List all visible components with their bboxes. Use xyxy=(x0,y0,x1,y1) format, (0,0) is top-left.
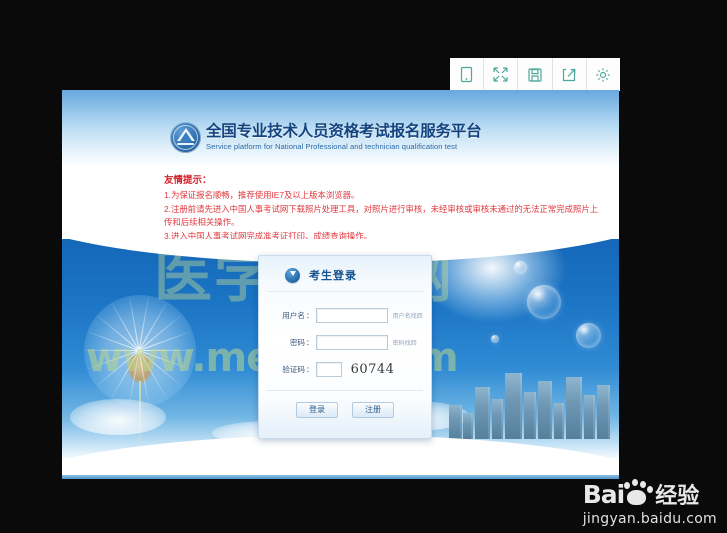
password-recover-link[interactable]: 密码找回 xyxy=(393,338,417,347)
baidu-jingyan-url: jingyan.baidu.com xyxy=(583,511,717,527)
password-row: 密码 ： 密码找回 xyxy=(259,329,431,356)
site-brand: 全国专业技术人员资格考试报名服务平台 Service platform for … xyxy=(170,122,481,153)
notice-line: 2.注册前请先进入中国人事考试网下载照片处理工具，对照片进行审核，未经审核或审核… xyxy=(164,203,601,230)
site-header: 全国专业技术人员资格考试报名服务平台 Service platform for … xyxy=(62,90,619,167)
bubble-decoration xyxy=(527,285,561,319)
national-exam-logo-icon xyxy=(170,122,201,153)
device-preview-icon[interactable] xyxy=(450,58,484,91)
captcha-input[interactable] xyxy=(316,362,342,377)
screenshot-root: 全国专业技术人员资格考试报名服务平台 Service platform for … xyxy=(0,0,727,533)
cloud-decoration xyxy=(70,399,166,435)
notice-title: 友情提示： xyxy=(164,174,601,187)
site-subtitle: Service platform for National Profession… xyxy=(206,141,481,152)
label-colon: ： xyxy=(306,364,314,375)
site-title: 全国专业技术人员资格考试报名服务平台 xyxy=(206,123,481,140)
browser-page: 全国专业技术人员资格考试报名服务平台 Service platform for … xyxy=(62,90,619,479)
fullscreen-icon[interactable] xyxy=(484,58,518,91)
baidu-jingyan-label: 经验 xyxy=(655,478,699,510)
baidu-jingyan-watermark: Bai 经验 jingyan.baidu.com xyxy=(583,478,717,527)
login-actions: 登录 注册 xyxy=(267,390,423,418)
username-recover-link[interactable]: 用户名找回 xyxy=(393,311,423,320)
username-label: 用户名 xyxy=(271,310,305,321)
bubble-decoration xyxy=(491,335,499,343)
username-input[interactable] xyxy=(316,308,388,323)
bubble-decoration xyxy=(514,261,527,274)
label-colon: ： xyxy=(306,310,314,321)
captcha-label: 验证码 xyxy=(271,364,305,375)
login-form: 用户名 ： 用户名找回 密码 ： 密码找回 验证码 ： xyxy=(259,292,431,383)
city-skyline-illustration xyxy=(447,363,613,439)
bubble-decoration xyxy=(576,323,601,348)
notice-block: 友情提示： 1.为保证报名顺畅，推荐使用IE7及以上版本浏览器。 2.注册前请先… xyxy=(62,167,619,239)
settings-gear-icon[interactable] xyxy=(587,58,620,91)
login-button[interactable]: 登录 xyxy=(296,402,338,418)
captcha-row: 验证码 ： 60744 xyxy=(259,356,431,383)
hero-banner: 医学教育网 www.med66.com 考生登录 用户名 ： 用户名找回 xyxy=(62,239,619,461)
login-panel: 考生登录 用户名 ： 用户名找回 密码 ： 密码找回 xyxy=(258,255,432,439)
register-button[interactable]: 注册 xyxy=(352,402,394,418)
username-row: 用户名 ： 用户名找回 xyxy=(259,302,431,329)
captcha-image-code[interactable]: 60744 xyxy=(351,362,395,377)
login-panel-header: 考生登录 xyxy=(267,256,423,292)
floating-toolbar xyxy=(450,58,620,91)
share-icon[interactable] xyxy=(553,58,587,91)
password-input[interactable] xyxy=(316,335,388,350)
save-icon[interactable] xyxy=(518,58,552,91)
arrow-down-circle-icon xyxy=(285,268,300,283)
notice-line: 1.为保证报名顺畅，推荐使用IE7及以上版本浏览器。 xyxy=(164,189,601,203)
page-bottom-rule xyxy=(62,475,619,479)
login-panel-title: 考生登录 xyxy=(309,267,357,283)
baidu-paw-icon xyxy=(622,481,652,507)
baidu-wordmark: Bai xyxy=(583,480,625,509)
label-colon: ： xyxy=(306,337,314,348)
password-label: 密码 xyxy=(271,337,305,348)
